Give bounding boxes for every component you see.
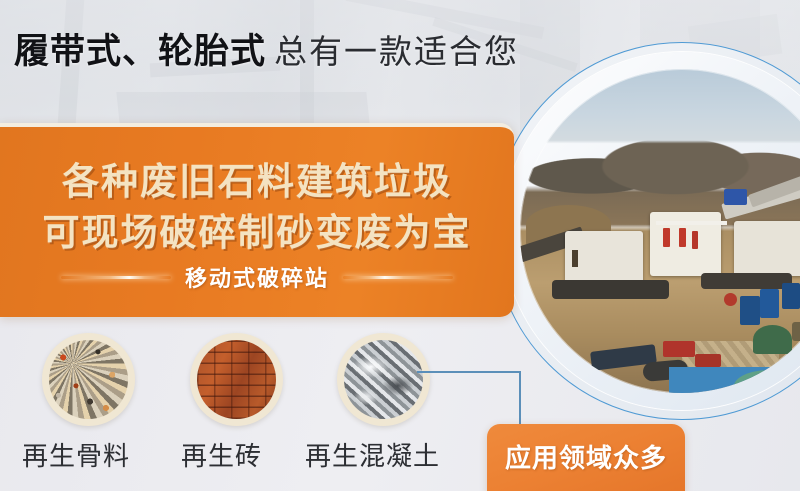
material-label-brick: 再生砖 (181, 436, 262, 473)
feature-panel: 各种废旧石料建筑垃圾 可现场破碎制砂变废为宝 移动式破碎站 (0, 123, 514, 317)
connector-line-vertical (519, 371, 521, 431)
material-circle-brick (190, 333, 283, 426)
material-circle-aggregate (42, 333, 135, 426)
material-label-aggregate: 再生骨料 (22, 436, 130, 473)
material-label-concrete: 再生混凝土 (305, 436, 440, 473)
feature-subtitle: 移动式破碎站 (185, 261, 329, 293)
recycled-concrete-photo (344, 340, 423, 419)
material-circle-concrete (337, 333, 430, 426)
feature-line-1: 各种废旧石料建筑垃圾 (0, 151, 514, 205)
flare-right-icon (343, 276, 453, 279)
recycled-brick-photo (197, 340, 276, 419)
banner-headline: 履带式、轮胎式总有一款适合您 (14, 34, 519, 69)
recycled-aggregate-photo (49, 340, 128, 419)
application-fields-button-label: 应用领域众多 (505, 438, 667, 475)
application-fields-button[interactable]: 应用领域众多 (487, 424, 685, 491)
flare-left-icon (61, 276, 171, 279)
feature-subtitle-row: 移动式破碎站 (0, 260, 514, 294)
headline-strong-text: 履带式、轮胎式 (14, 32, 266, 71)
promo-banner: 履带式、轮胎式总有一款适合您 各种废旧石料建筑垃圾 (0, 0, 800, 491)
headline-light-text: 总有一款适合您 (274, 33, 519, 70)
connector-line-horizontal (417, 371, 520, 373)
feature-line-2: 可现场破碎制砂变废为宝 (0, 202, 514, 256)
